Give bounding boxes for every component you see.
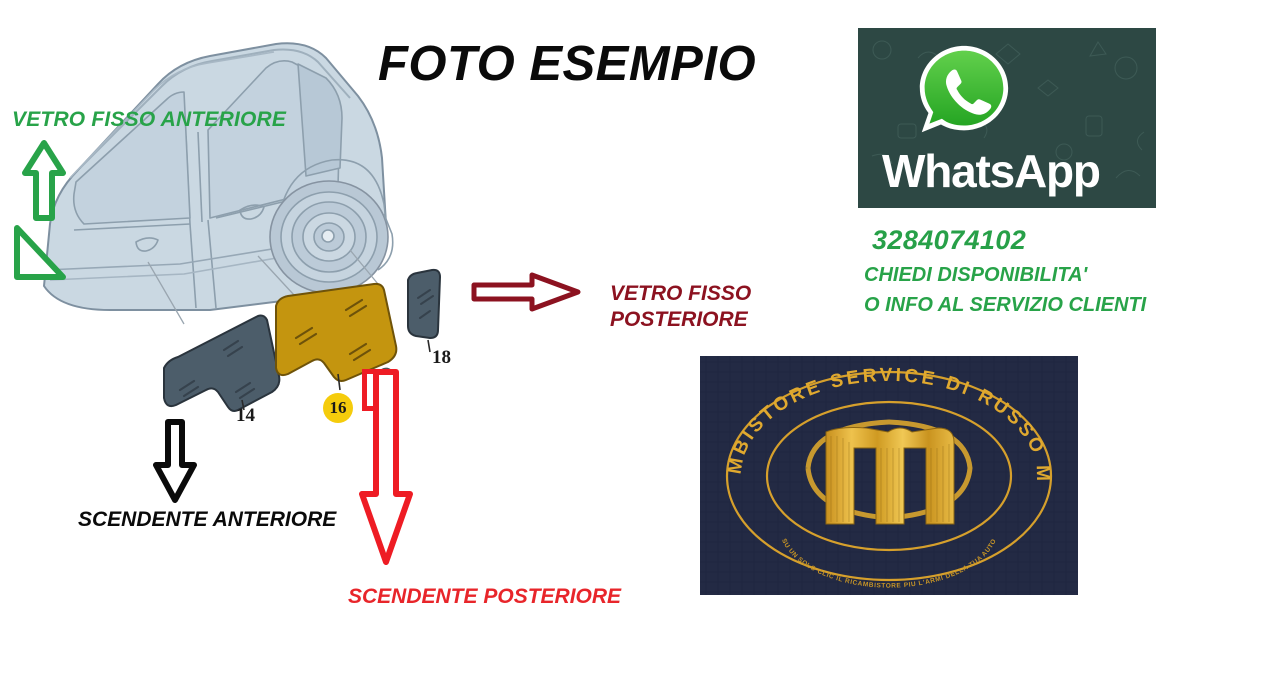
label-rear-fixed-glass: VETRO FISSO POSTERIORE [610, 281, 751, 333]
whatsapp-wordmark: WhatsApp [882, 144, 1100, 198]
phone-number[interactable]: 3284074102 [872, 225, 1026, 256]
svg-text:SU UN SOLO CLIC IL RICAMBISTOR: SU UN SOLO CLIC IL RICAMBISTORE PIU L'AR… [780, 538, 998, 590]
label-rear-drop-glass: SCENDENTE POSTERIORE [348, 585, 621, 609]
label-front-fixed-glass: VETRO FISSO ANTERIORE [12, 108, 286, 132]
label-rear-fixed-glass-line-1: VETRO FISSO [610, 281, 751, 307]
label-front-drop-glass: SCENDENTE ANTERIORE [78, 508, 336, 532]
emblem-fine-print: SU UN SOLO CLIC IL RICAMBISTORE PIU L'AR… [780, 538, 998, 590]
part-number-badge-16: 16 [323, 393, 353, 423]
black-down-arrow-icon [152, 418, 198, 509]
red-down-arrow-icon [358, 368, 414, 573]
part-number-14: 14 [236, 405, 255, 427]
part-number-18: 18 [432, 347, 451, 369]
dark-red-right-arrow-icon [470, 270, 582, 319]
page-title: FOTO ESEMPIO [378, 36, 756, 92]
green-triangle-icon [8, 222, 68, 289]
contact-line-2: O INFO AL SERVIZIO CLIENTI [864, 294, 1146, 317]
label-rear-fixed-glass-line-2: POSTERIORE [610, 307, 751, 333]
whatsapp-icon [916, 42, 1012, 138]
emblem-artwork: MRICAMBISTORE SERVICE DI RUSSO MARCO SU … [700, 356, 1078, 595]
whatsapp-banner: WhatsApp [858, 28, 1156, 208]
contact-line-1: CHIEDI DISPONIBILITA' [864, 264, 1087, 287]
company-emblem-photo: MRICAMBISTORE SERVICE DI RUSSO MARCO SU … [700, 356, 1078, 595]
screenshot-canvas: 14 18 17 16 FOTO ESEMPIO VETRO FISSO ANT… [0, 0, 1264, 678]
green-up-arrow-icon [22, 140, 66, 227]
